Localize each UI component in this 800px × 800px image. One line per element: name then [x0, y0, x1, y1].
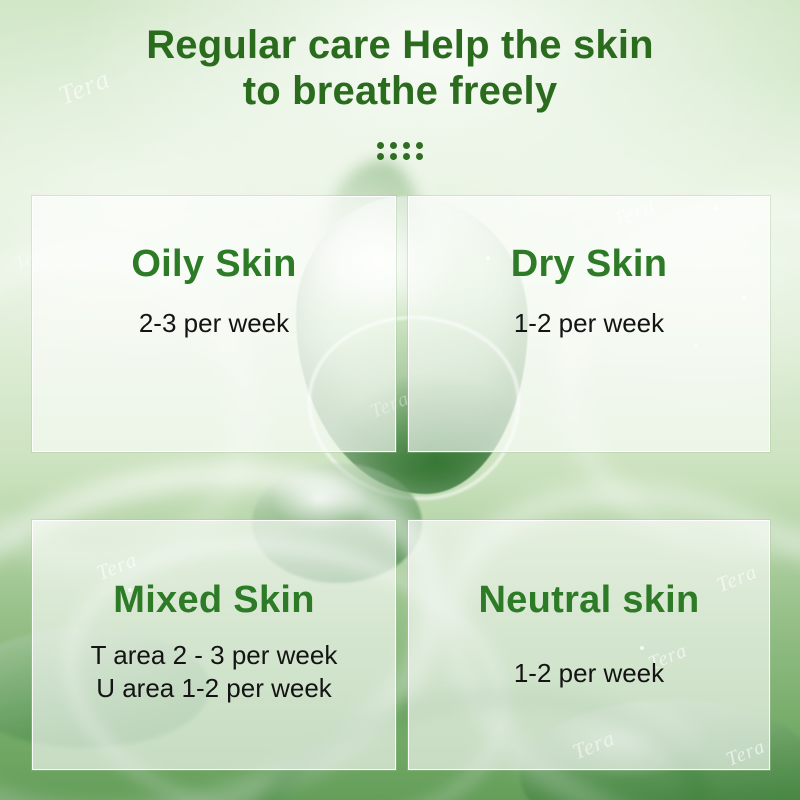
divider-dot — [377, 153, 384, 160]
card-dry-skin: Dry Skin 1-2 per week — [408, 196, 770, 452]
card-neutral-skin: Neutral skin 1-2 per week — [408, 520, 770, 770]
page-title-line-2: to breathe freely — [0, 68, 800, 114]
card-title-neutral-skin: Neutral skin — [478, 579, 699, 621]
card-mixed-skin: Mixed Skin T area 2 - 3 per week U area … — [32, 520, 396, 770]
card-title-dry-skin: Dry Skin — [511, 243, 668, 285]
card-body-line: U area 1-2 per week — [91, 672, 338, 705]
card-body-mixed-skin: T area 2 - 3 per week U area 1-2 per wee… — [91, 639, 338, 705]
card-body-line: 2-3 per week — [139, 307, 289, 340]
card-body-line: 1-2 per week — [514, 307, 664, 340]
page-title: Regular care Help the skin to breathe fr… — [0, 22, 800, 114]
card-oily-skin: Oily Skin 2-3 per week — [32, 196, 396, 452]
divider-dot — [403, 142, 410, 149]
divider-dot — [416, 153, 423, 160]
card-body-neutral-skin: 1-2 per week — [514, 657, 664, 690]
dot-divider — [0, 142, 800, 160]
divider-dot — [403, 153, 410, 160]
divider-dot — [390, 142, 397, 149]
card-body-line: 1-2 per week — [514, 657, 664, 690]
divider-dot — [416, 142, 423, 149]
divider-dot — [390, 153, 397, 160]
dot-divider-grid — [377, 142, 423, 160]
card-body-oily-skin: 2-3 per week — [139, 307, 289, 340]
card-title-mixed-skin: Mixed Skin — [113, 579, 315, 621]
card-body-line: T area 2 - 3 per week — [91, 639, 338, 672]
skincare-frequency-poster: Tera Tera Tera Tera Tera Tera Tera Tera … — [0, 0, 800, 800]
card-body-dry-skin: 1-2 per week — [514, 307, 664, 340]
divider-dot — [377, 142, 384, 149]
card-title-oily-skin: Oily Skin — [131, 243, 296, 285]
page-title-line-1: Regular care Help the skin — [0, 22, 800, 68]
